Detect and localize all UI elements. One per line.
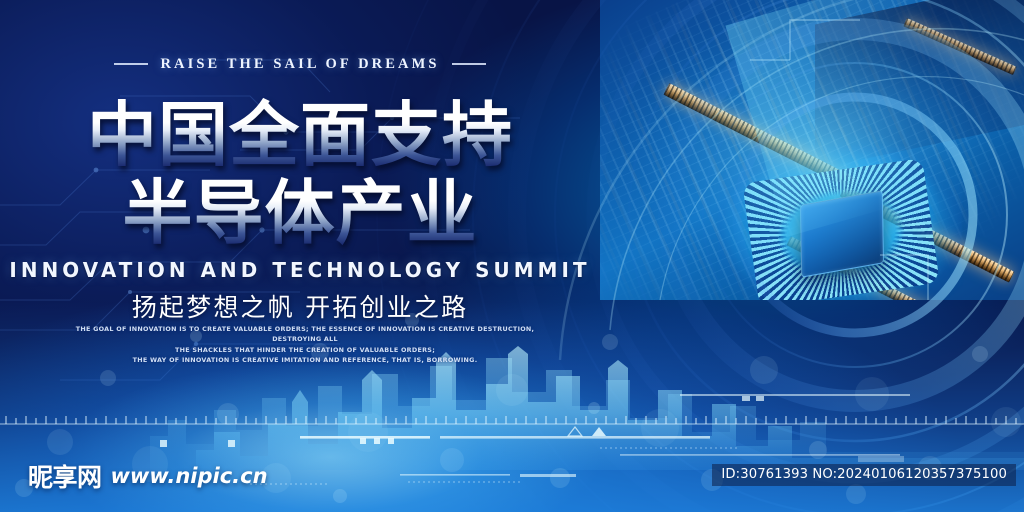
- body-line-1: THE GOAL OF INNOVATION IS TO CREATE VALU…: [55, 324, 555, 345]
- image-id-plate: ID:30761393 NO:20240106120357375100: [712, 464, 1016, 486]
- tagline-row: RAISE THE SAIL OF DREAMS: [0, 52, 600, 76]
- poster-canvas: RAISE THE SAIL OF DREAMS 中国全面支持 半导体产业 IN…: [0, 0, 1024, 512]
- subtitle-chinese: 扬起梦想之帆 开拓创业之路: [0, 288, 600, 324]
- tagline-text: RAISE THE SAIL OF DREAMS: [160, 56, 439, 73]
- dash-icon: [114, 63, 148, 65]
- watermark-site-name: 昵享网: [28, 458, 102, 494]
- body-line-3: THE WAY OF INNOVATION IS CREATIVE IMITAT…: [55, 355, 555, 365]
- headline-line-1: 中国全面支持: [0, 96, 600, 174]
- page-title: 中国全面支持 半导体产业: [0, 96, 600, 252]
- watermark: 昵享网 www.nipic.cn: [28, 458, 268, 494]
- body-line-2: THE SHACKLES THAT HINDER THE CREATION OF…: [55, 345, 555, 355]
- dash-icon: [452, 63, 486, 65]
- subtitle-english: INNOVATION AND TECHNOLOGY SUMMIT: [9, 258, 591, 282]
- headline-line-2: 半导体产业: [0, 174, 600, 252]
- watermark-site-url: www.nipic.cn: [111, 464, 268, 488]
- body-paragraph: THE GOAL OF INNOVATION IS TO CREATE VALU…: [55, 324, 555, 366]
